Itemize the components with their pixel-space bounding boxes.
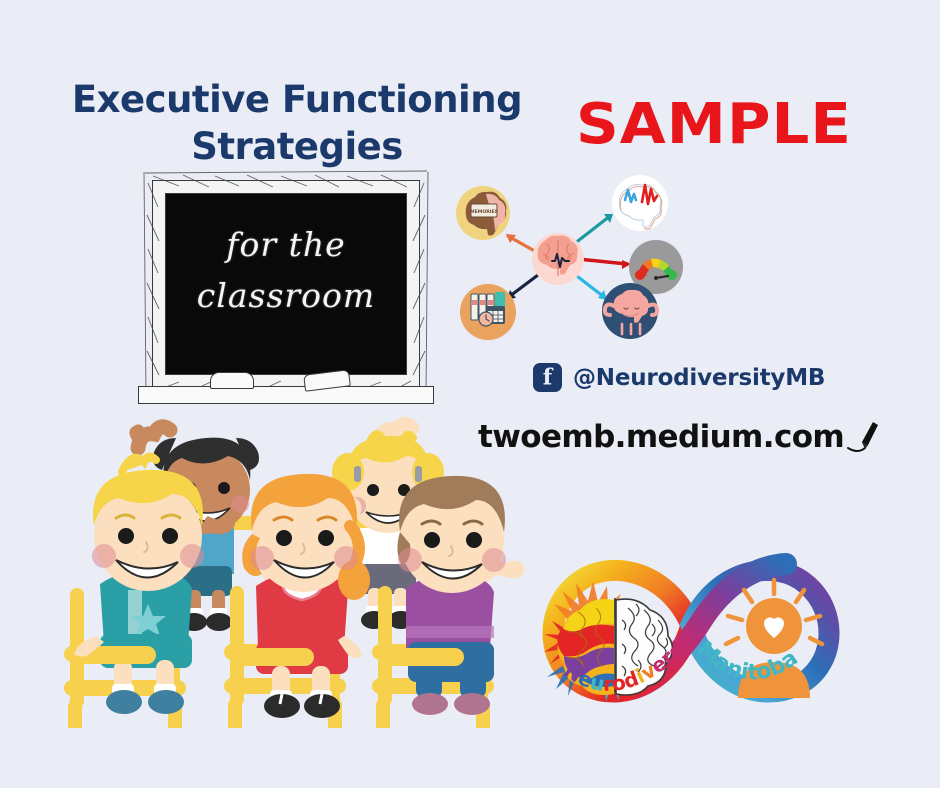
shoe-right <box>454 693 490 715</box>
central-brain <box>532 233 584 285</box>
chalk-eraser <box>210 372 254 389</box>
chalkboard-ledge <box>138 386 434 404</box>
sample-watermark: SAMPLE <box>576 92 852 157</box>
strong-brain-node <box>602 283 658 339</box>
chalkboard-line-1: for the <box>165 219 407 270</box>
child-blond-boy-teal <box>72 456 204 714</box>
facebook-handle[interactable]: @NeurodiversityMB <box>573 365 825 391</box>
chalkboard-illustration: for the classroom <box>152 180 420 388</box>
pen-icon <box>846 418 880 456</box>
chalkboard-frame: for the classroom <box>152 180 420 388</box>
memories-node: MEMORIES <box>456 186 510 240</box>
title-line-2: Strategies <box>62 123 532 170</box>
arrow-to-gauge <box>578 259 631 269</box>
neurodiversity-manitoba-logo: Neurodiversity Manitoba <box>506 528 876 723</box>
shoe-left <box>412 693 448 715</box>
arrow-to-organization <box>507 272 542 299</box>
facebook-icon[interactable]: f <box>533 363 562 392</box>
classroom-kids-illustration <box>60 408 560 728</box>
organization-node <box>460 284 516 340</box>
executive-function-brain-diagram: MEMORIES <box>452 172 692 348</box>
facebook-contact[interactable]: f @NeurodiversityMB <box>533 363 825 392</box>
memories-label: MEMORIES <box>470 209 498 215</box>
poster-canvas: Executive Functioning Strategies SAMPLE … <box>0 0 940 788</box>
chalkboard-line-2: classroom <box>165 270 407 321</box>
title-line-1: Executive Functioning <box>62 76 532 123</box>
shoe-left <box>106 690 142 714</box>
facebook-glyph: f <box>533 366 562 388</box>
shoe-right <box>148 690 184 714</box>
brainwaves-node <box>612 175 668 231</box>
arrow-to-strong-brain <box>573 273 607 300</box>
chalkboard-text: for the classroom <box>165 219 407 321</box>
arrow-to-brainwaves <box>574 214 613 244</box>
page-title: Executive Functioning Strategies <box>62 76 532 171</box>
